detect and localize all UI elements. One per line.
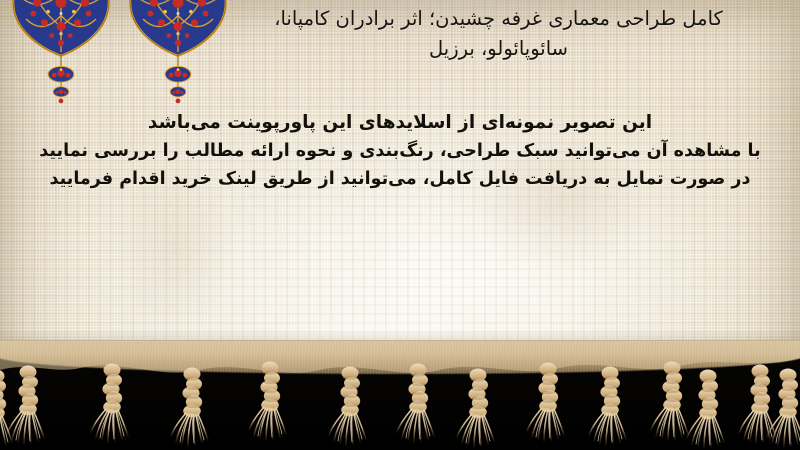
carpet-fringe bbox=[0, 340, 800, 450]
tassel-row bbox=[0, 362, 800, 449]
body-line-1: این تصویر نمونه‌ای از اسلایدهای این پاور… bbox=[0, 108, 800, 138]
fringe-tassels-icon bbox=[0, 340, 800, 450]
slide-title: کامل طراحی معماری غرفه چشیدن؛ اثر برادرا… bbox=[211, 4, 786, 64]
slide-canvas: کامل طراحی معماری غرفه چشیدن؛ اثر برادرا… bbox=[0, 0, 800, 450]
title-line-1: کامل طراحی معماری غرفه چشیدن؛ اثر برادرا… bbox=[211, 4, 786, 34]
title-line-2: سائوپائولو، برزیل bbox=[211, 34, 786, 64]
body-line-2: با مشاهده آن می‌توانید سبک طراحی، رنگ‌بن… bbox=[0, 138, 800, 166]
slide-body: این تصویر نمونه‌ای از اسلایدهای این پاور… bbox=[0, 108, 800, 194]
body-line-3: در صورت تمایل به دریافت فایل کامل، می‌تو… bbox=[0, 166, 800, 194]
